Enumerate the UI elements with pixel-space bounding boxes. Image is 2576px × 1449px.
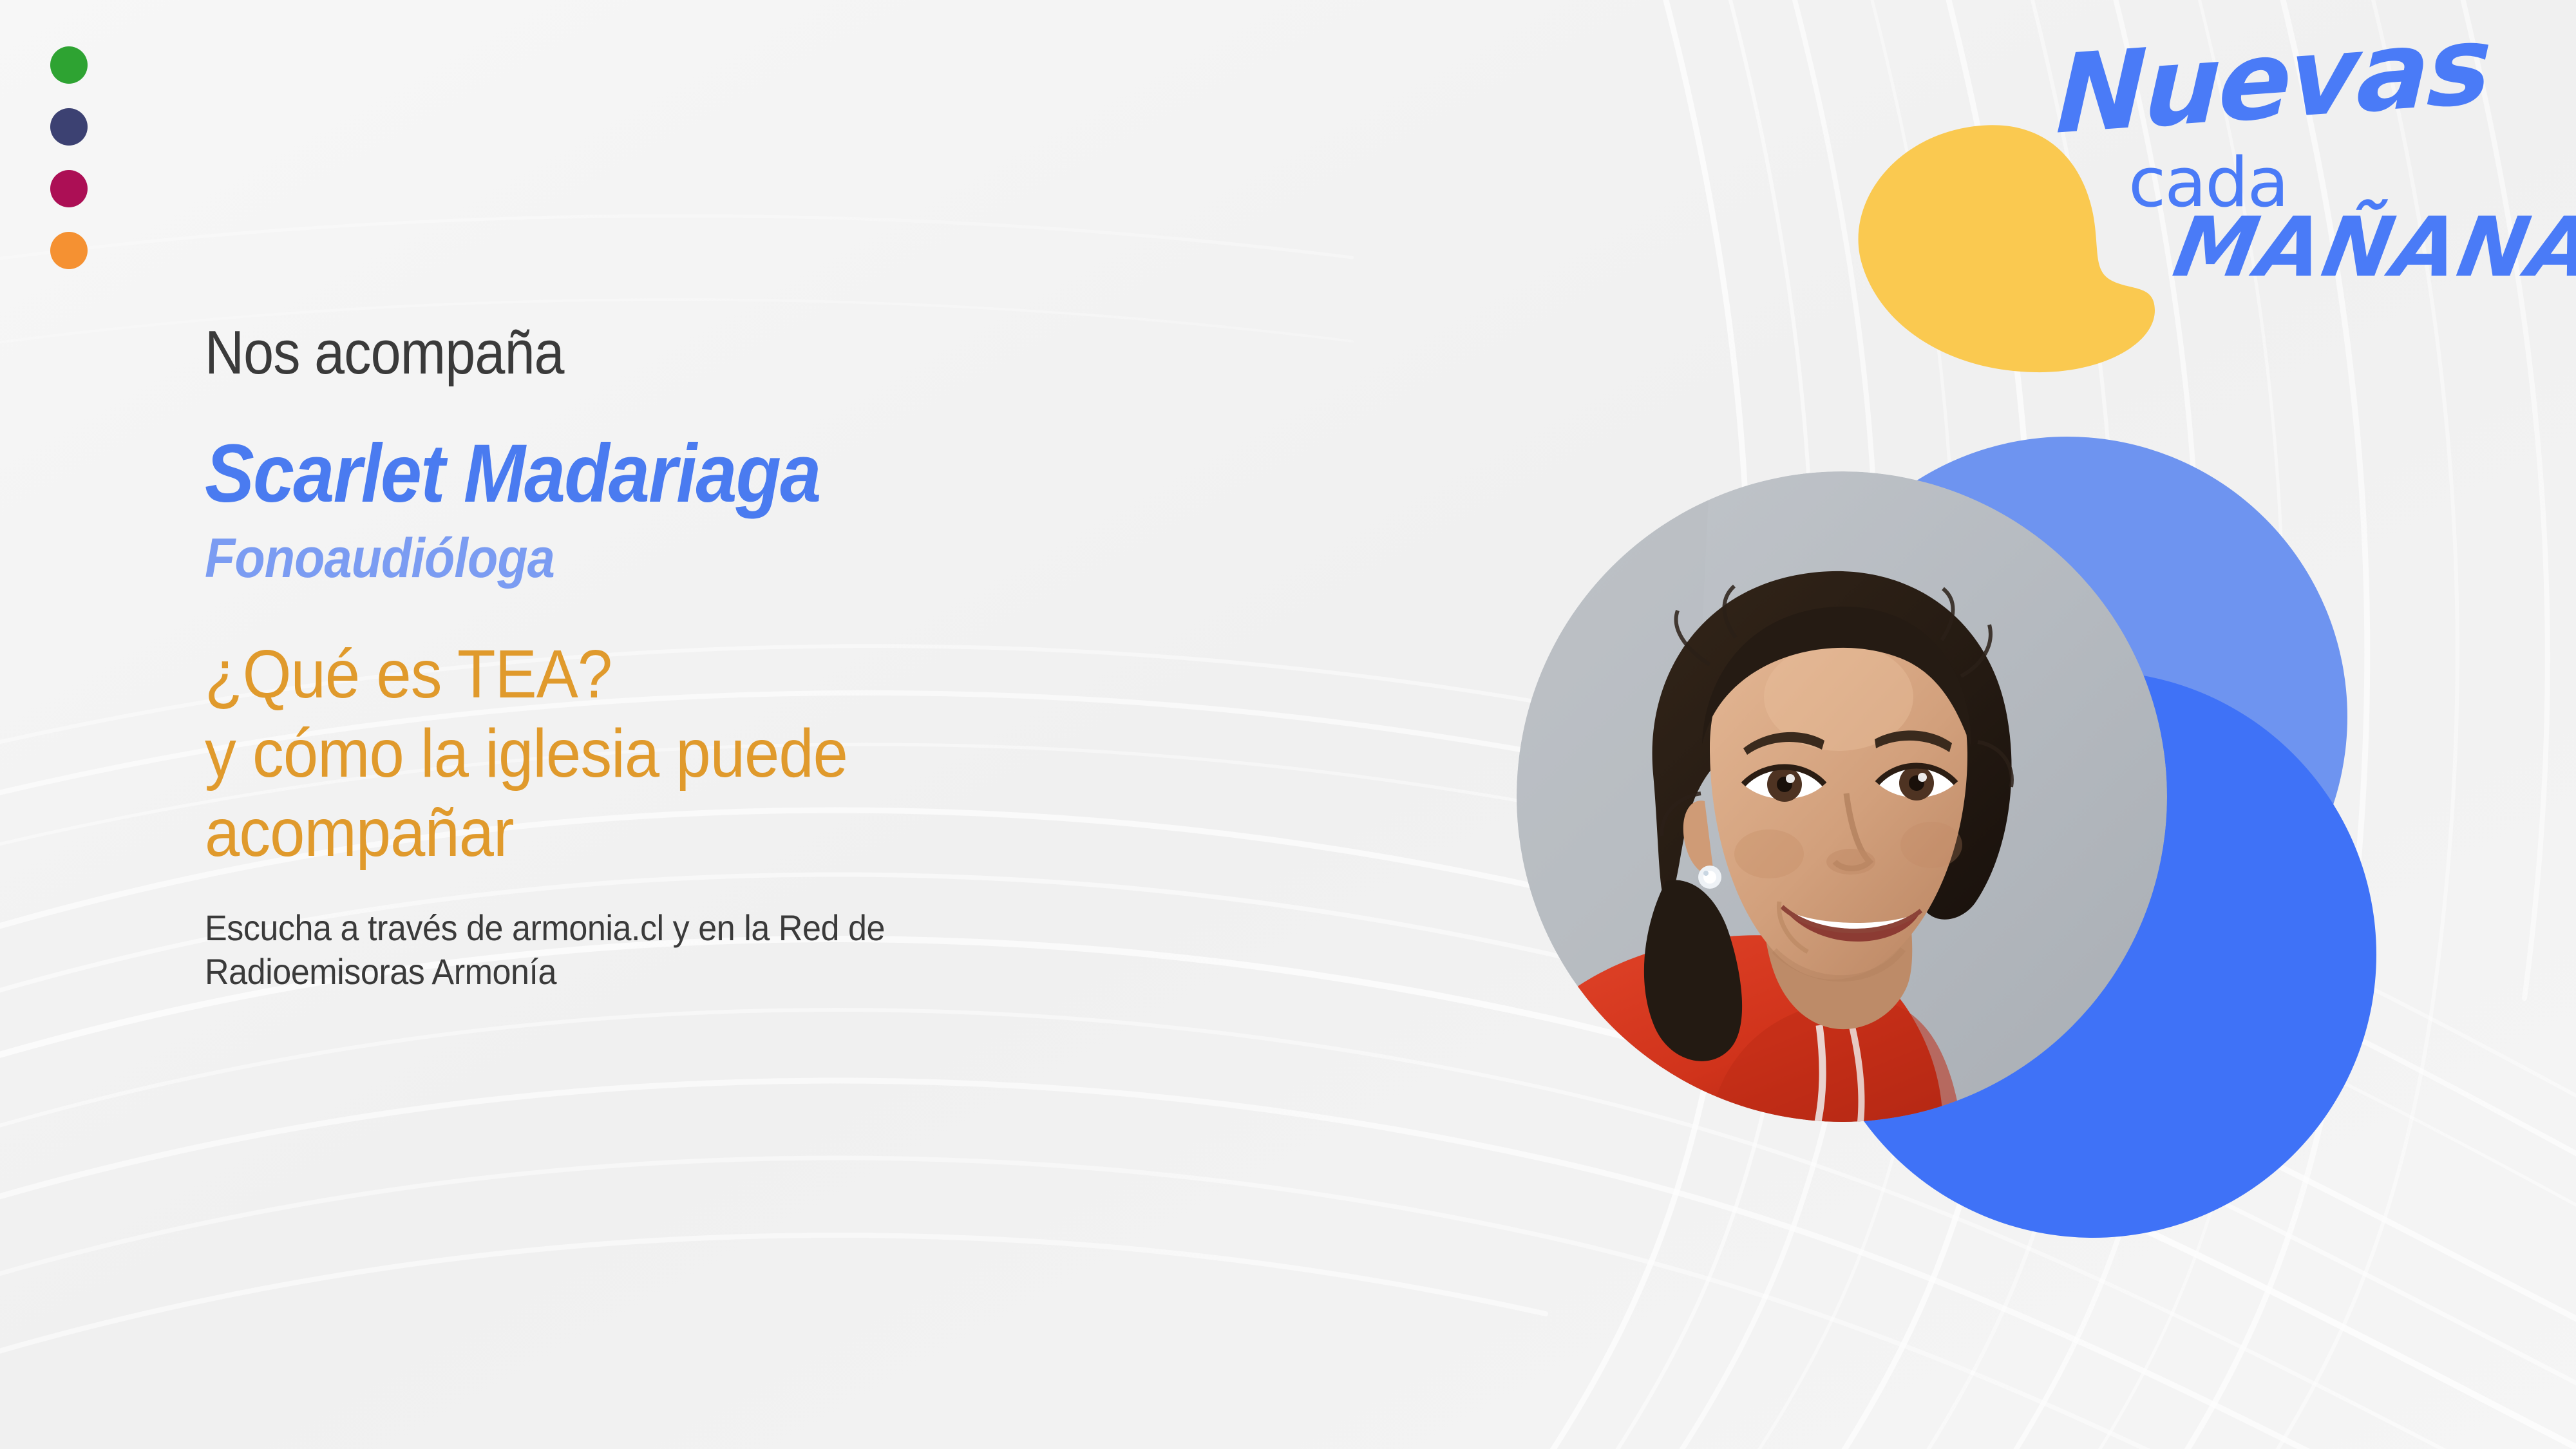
dot-magenta [50,170,88,207]
listen-note: Escucha a través de armonia.cl y en la R… [205,906,1433,994]
sun-blob-icon [1853,122,2156,374]
topic-line-3: acompañar [205,793,1419,873]
topic-line-2: y cómo la iglesia puede [205,714,1419,793]
listen-line-2: Radioemisoras Armonía [205,950,1433,994]
speaker-name: Scarlet Madariaga [205,433,1393,515]
dot-navy [50,108,88,146]
eyebrow-label: Nos acompaña [205,322,1367,384]
topic-title: ¿Qué es TEA? y cómo la iglesia puede aco… [205,635,1419,873]
listen-line-1: Escucha a través de armonia.cl y en la R… [205,906,1433,950]
portrait-illustration [1517,471,2167,1122]
slide-canvas: Nuevas cada MAÑANA Nos acompaña Scarlet … [0,0,2576,1449]
text-block: Nos acompaña Scarlet Madariaga Fonoaudió… [205,322,1525,994]
topic-line-1: ¿Qué es TEA? [205,635,1419,714]
avatar [1517,471,2167,1122]
dot-green [50,46,88,84]
earring-icon [1698,866,1721,889]
logo-line-manana: MAÑANA [2167,200,2576,296]
brand-dot-column [50,46,88,269]
portrait-group [1517,425,2431,1314]
speaker-role: Fonoaudióloga [205,531,1393,586]
program-logo: Nuevas cada MAÑANA [1842,26,2550,328]
dot-orange [50,232,88,269]
